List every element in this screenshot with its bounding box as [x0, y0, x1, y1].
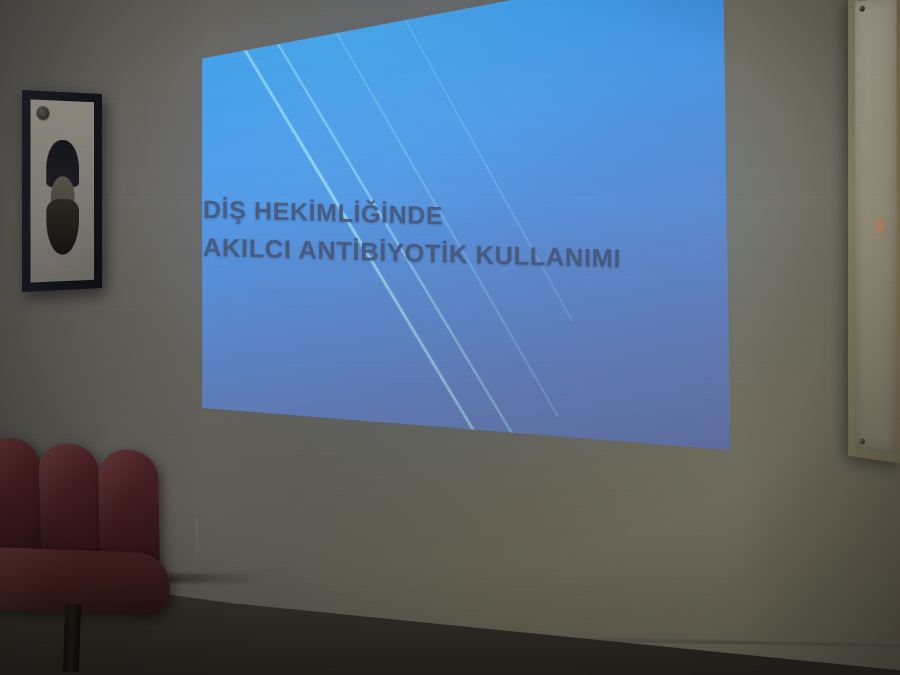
notice-board-glass — [855, 0, 896, 454]
chair-leg — [63, 604, 81, 672]
notice-board — [848, 0, 900, 464]
portrait-figure — [44, 140, 82, 253]
presentation-room-photo: DİŞ HEKİMLİĞİNDE AKILCI ANTİBİYOTİK KULL… — [0, 0, 900, 675]
waiting-room-chairs — [0, 422, 236, 647]
chair-seat — [0, 546, 171, 616]
chair-backrest — [0, 437, 45, 562]
institution-logo-icon — [37, 107, 49, 120]
portrait-mat — [30, 99, 94, 282]
screw-icon — [860, 438, 865, 445]
portrait-beard — [46, 199, 80, 255]
board-content-spot — [874, 216, 887, 236]
framed-portrait — [22, 90, 102, 292]
